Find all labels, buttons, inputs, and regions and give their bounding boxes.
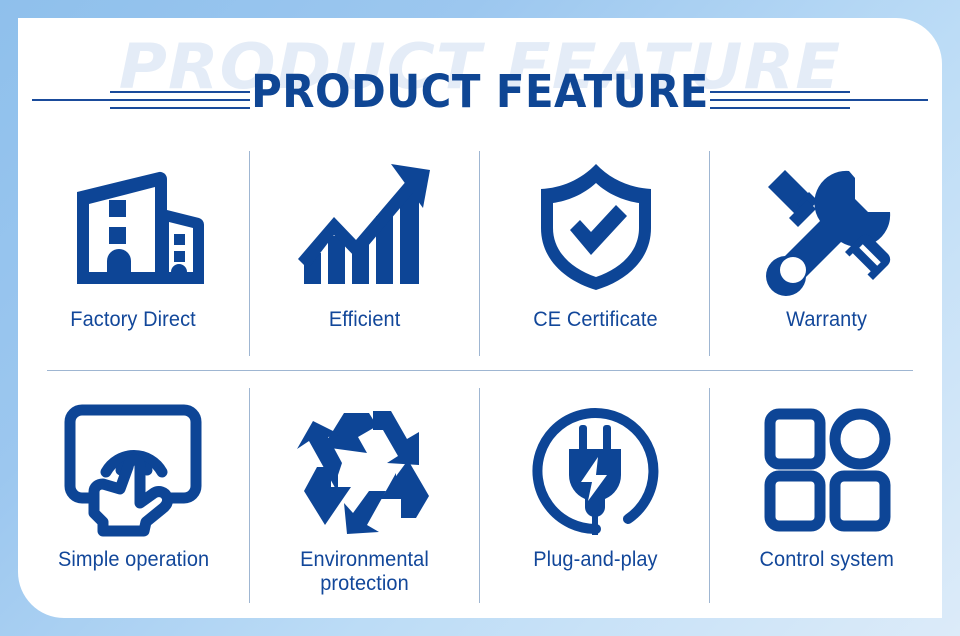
feature-grid: Factory Direct [18, 133, 942, 618]
feature-label: CE Certificate [533, 308, 657, 332]
touchscreen-hand-icon [58, 394, 210, 544]
header: PRODUCT FEATURE PRODUCT FEATURE [18, 18, 942, 133]
page-background: PRODUCT FEATURE PRODUCT FEATURE [0, 0, 960, 636]
title-rule-right [710, 86, 928, 114]
feature-label: Factory Direct [71, 308, 196, 332]
factory-building-icon [59, 143, 209, 308]
feature-label: Warranty [786, 308, 867, 332]
feature-item-plug-and-play[interactable]: Plug-and-play [480, 376, 711, 618]
shield-check-icon [521, 143, 671, 308]
feature-item-efficient[interactable]: Efficient [249, 133, 480, 375]
feature-label: Control system [759, 548, 893, 572]
feature-item-ce-certificate[interactable]: CE Certificate [480, 133, 711, 375]
feature-item-environmental-protection[interactable]: Environmental protection [249, 376, 480, 618]
feature-item-factory-direct[interactable]: Factory Direct [18, 133, 249, 375]
growth-chart-icon [290, 143, 440, 308]
feature-item-warranty[interactable]: Warranty [711, 133, 942, 375]
recycling-icon [295, 394, 435, 544]
feature-row-top: Factory Direct [18, 133, 942, 375]
title-rule-left [32, 86, 250, 114]
feature-item-control-system[interactable]: Control system [711, 376, 942, 618]
power-plug-icon [524, 394, 668, 544]
feature-row-bottom: Simple operation [18, 376, 942, 618]
feature-card: PRODUCT FEATURE PRODUCT FEATURE [18, 18, 942, 618]
feature-label: Efficient [329, 308, 400, 332]
control-grid-icon [762, 394, 892, 544]
feature-label: Plug-and-play [533, 548, 657, 572]
feature-label: Simple operation [58, 548, 209, 572]
feature-label: Environmental protection [255, 548, 474, 595]
wrench-screwdriver-icon [752, 143, 902, 308]
feature-item-simple-operation[interactable]: Simple operation [18, 376, 249, 618]
